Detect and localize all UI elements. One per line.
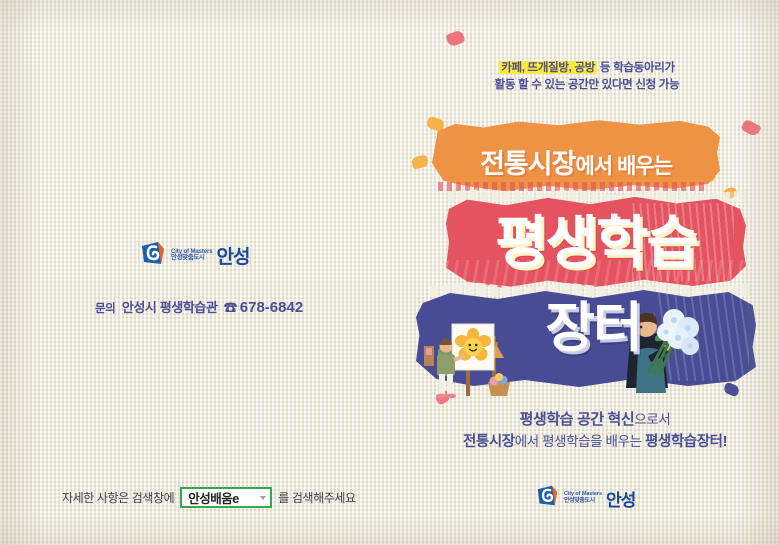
tagline-line-2-part3: 평생학습장터! (645, 434, 727, 450)
tagline-line-2-part2: 에서 평생학습을 배우는 (515, 434, 645, 449)
eligibility-note-highlight: 카페, 뜨개질방, 공방 (499, 61, 597, 74)
chevron-down-icon[interactable] (260, 496, 266, 500)
banner-title-1-rest: 에서 배우는 (575, 155, 671, 178)
logo-tagline-kr: 안성맞춤도시 (171, 255, 213, 262)
confetti-pink-1 (445, 29, 466, 47)
search-hint-prefix: 자세한 사항은 검색창에 (62, 489, 174, 506)
banner-title-line-2: 평생학습 (446, 212, 746, 274)
contact-organization: 안성시 평생학습관 (122, 300, 218, 315)
search-hint-row: 자세한 사항은 검색창에 안성배움e 를 검색해주세요 (62, 487, 356, 508)
logo-tagline-kr-footer: 안성맞춤도시 (564, 498, 602, 504)
anseong-city-logo-main: City of Masters 안성맞춤도시 안성 (140, 240, 249, 271)
confetti-orange-2 (411, 154, 429, 169)
tagline-line-2: 전통시장에서 평생학습을 배우는 평생학습장터! (440, 431, 750, 453)
anseong-swirl-mark-icon (140, 240, 166, 271)
eligibility-note-line1-rest: 등 학습동아리가 (597, 62, 675, 74)
logo-city-name: 안성 (217, 242, 250, 269)
banner-title-line-1: 전통시장에서 배우는 (432, 142, 720, 181)
tagline-line-1-bold: 평생학습 공간 혁신 (520, 411, 635, 428)
anseong-swirl-mark-icon-footer (536, 484, 559, 512)
tagline-line-1-rest: 으로서 (634, 412, 670, 427)
contact-line: 문의 안성시 평생학습관 ☎ 678-6842 (95, 297, 300, 316)
poster-canvas: 카페, 뜨개질방, 공방 등 학습동아리가 활동 할 수 있는 공간만 있다면 … (0, 0, 779, 545)
contact-phone: 678-6842 (240, 299, 303, 316)
search-hint-suffix: 를 검색해주세요 (278, 489, 355, 506)
confetti-pink-2 (740, 118, 762, 137)
search-keyword-value: 안성배움e (188, 488, 238, 507)
poster-tagline: 평생학습 공간 혁신으로서 전통시장에서 평생학습을 배우는 평생학습장터! (440, 408, 750, 454)
anseong-city-logo-footer: City of Masters 안성맞춤도시 안성 (536, 484, 635, 512)
banner-title-line-3: 장터 (478, 298, 708, 358)
search-keyword-field[interactable]: 안성배움e (180, 487, 272, 508)
tagline-line-2-part1: 전통시장 (463, 434, 515, 450)
logo-tagline-en-footer: City of Masters (564, 492, 602, 498)
logo-city-name-footer: 안성 (606, 486, 635, 511)
tagline-line-1: 평생학습 공간 혁신으로서 (440, 408, 750, 431)
telephone-icon: ☎ (224, 300, 237, 315)
contact-label: 문의 (95, 303, 115, 315)
eligibility-note-line2: 활동 할 수 있는 공간만 있다면 신청 가능 (495, 79, 680, 91)
eligibility-note: 카페, 뜨개질방, 공방 등 학습동아리가 활동 할 수 있는 공간만 있다면 … (462, 60, 712, 93)
banner-title-1-bold: 전통시장 (480, 149, 575, 179)
